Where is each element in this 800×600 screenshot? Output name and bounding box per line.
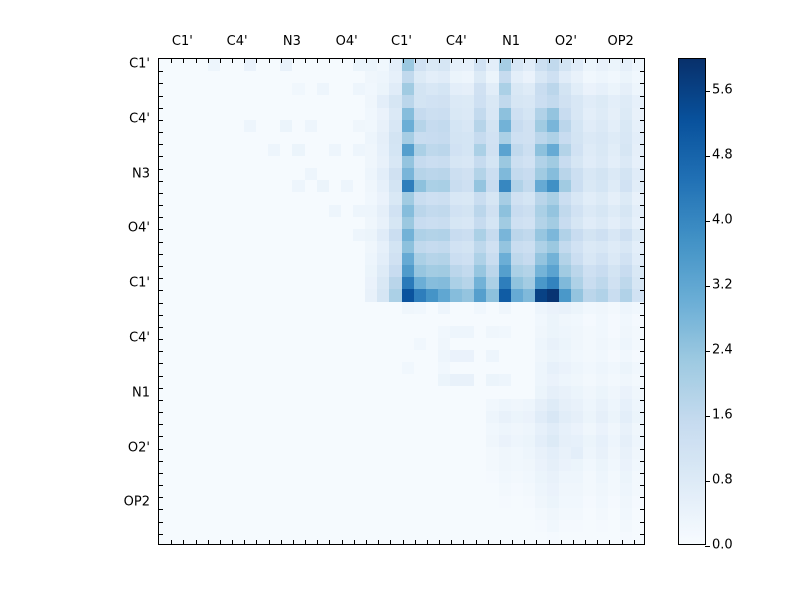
heatmap-cell	[414, 144, 426, 156]
heatmap-cell	[414, 447, 426, 459]
heatmap-cell	[438, 289, 450, 301]
heatmap-cell	[608, 180, 620, 192]
heatmap-cell	[280, 241, 292, 253]
heatmap-cell	[171, 386, 183, 398]
heatmap-cell	[208, 386, 220, 398]
heatmap-cell	[268, 471, 280, 483]
heatmap-cell	[608, 483, 620, 495]
heatmap-cell	[341, 241, 353, 253]
heatmap-cell	[208, 459, 220, 471]
heatmap-cell	[365, 326, 377, 338]
heatmap-cell	[232, 411, 244, 423]
heatmap-cell	[208, 471, 220, 483]
heatmap-cell	[244, 229, 256, 241]
heatmap-cell	[450, 520, 462, 532]
heatmap-cell	[256, 302, 268, 314]
heatmap-cell	[377, 71, 389, 83]
heatmap-cell	[268, 326, 280, 338]
heatmap-cell	[365, 229, 377, 241]
axis-tick	[640, 254, 644, 255]
axis-tick	[329, 540, 330, 544]
heatmap-cell	[280, 508, 292, 520]
heatmap-cell	[183, 120, 195, 132]
heatmap-cell	[511, 386, 523, 398]
heatmap-cell	[462, 411, 474, 423]
heatmap-cell	[317, 289, 329, 301]
axis-tick	[463, 540, 464, 544]
axis-tick	[305, 59, 306, 63]
heatmap-cell	[305, 241, 317, 253]
heatmap-cell	[523, 386, 535, 398]
heatmap-cell	[426, 350, 438, 362]
axis-tick	[439, 540, 440, 544]
heatmap-cell	[365, 205, 377, 217]
heatmap-cell	[462, 192, 474, 204]
heatmap-cell	[208, 192, 220, 204]
heatmap-cell	[402, 435, 414, 447]
heatmap-cell	[450, 108, 462, 120]
heatmap-cell	[450, 71, 462, 83]
heatmap-cell	[535, 132, 547, 144]
heatmap-cell	[268, 386, 280, 398]
heatmap-cell	[317, 520, 329, 532]
heatmap-cell	[232, 386, 244, 398]
heatmap-cell	[292, 95, 304, 107]
axis-tick	[196, 59, 197, 63]
heatmap-cell	[596, 120, 608, 132]
heatmap-cell	[426, 435, 438, 447]
heatmap-cell	[583, 374, 595, 386]
x-tick-label: C4'	[227, 34, 248, 49]
heatmap-cell	[305, 120, 317, 132]
heatmap-cell	[292, 241, 304, 253]
heatmap-cell	[511, 459, 523, 471]
heatmap-cell	[329, 459, 341, 471]
heatmap-cell	[620, 314, 632, 326]
heatmap-cell	[232, 483, 244, 495]
axis-tick	[390, 540, 391, 544]
heatmap-cell	[499, 314, 511, 326]
heatmap-cell	[329, 192, 341, 204]
axis-tick	[640, 485, 644, 486]
heatmap-cell	[583, 483, 595, 495]
heatmap-cell	[402, 302, 414, 314]
heatmap-cell	[244, 144, 256, 156]
heatmap-cell	[559, 411, 571, 423]
heatmap-cell	[377, 411, 389, 423]
heatmap-cell	[317, 374, 329, 386]
heatmap-cell	[583, 205, 595, 217]
axis-tick	[269, 540, 270, 544]
heatmap-cell	[632, 205, 644, 217]
heatmap-cell	[183, 399, 195, 411]
heatmap-cell	[183, 326, 195, 338]
heatmap-cell	[402, 289, 414, 301]
heatmap-cell	[329, 302, 341, 314]
heatmap-cell	[438, 459, 450, 471]
heatmap-cell	[402, 83, 414, 95]
axis-tick	[640, 132, 644, 133]
heatmap-cell	[402, 496, 414, 508]
heatmap-cell	[486, 471, 498, 483]
heatmap-cell	[195, 520, 207, 532]
heatmap-cell	[365, 374, 377, 386]
heatmap-cell	[620, 83, 632, 95]
heatmap-cell	[389, 362, 401, 374]
axis-tick	[159, 473, 163, 474]
heatmap-cell	[389, 253, 401, 265]
heatmap-cell	[474, 156, 486, 168]
heatmap-cell	[402, 483, 414, 495]
heatmap-cell	[547, 108, 559, 120]
axis-tick	[609, 540, 610, 544]
heatmap-cell	[365, 265, 377, 277]
axis-tick	[640, 509, 644, 510]
heatmap-cell	[244, 411, 256, 423]
heatmap-cell	[220, 156, 232, 168]
axis-tick	[159, 71, 163, 72]
heatmap-cell	[438, 180, 450, 192]
heatmap-cell	[305, 423, 317, 435]
heatmap-cell	[171, 180, 183, 192]
heatmap-cell	[462, 229, 474, 241]
heatmap-cell	[414, 374, 426, 386]
heatmap-cell	[620, 192, 632, 204]
heatmap-cell	[292, 192, 304, 204]
heatmap-cell	[438, 435, 450, 447]
heatmap-cell	[305, 265, 317, 277]
heatmap-cell	[220, 253, 232, 265]
heatmap-cell	[159, 120, 171, 132]
y-tick-label: C1'	[96, 276, 150, 291]
heatmap-cell	[547, 435, 559, 447]
axis-tick	[159, 181, 163, 182]
heatmap-plot-area[interactable]	[158, 58, 645, 545]
heatmap-cell	[341, 132, 353, 144]
heatmap-cell	[389, 496, 401, 508]
heatmap-cell	[583, 265, 595, 277]
axis-tick	[597, 59, 598, 63]
axis-tick	[183, 540, 184, 544]
heatmap-cell	[365, 411, 377, 423]
heatmap-cell	[280, 217, 292, 229]
heatmap-cell	[280, 83, 292, 95]
heatmap-cell	[499, 108, 511, 120]
colorbar[interactable]	[678, 58, 706, 545]
heatmap-cell	[195, 83, 207, 95]
heatmap-cell	[220, 532, 232, 544]
heatmap-cell	[317, 71, 329, 83]
heatmap-cell	[195, 241, 207, 253]
heatmap-cell	[438, 205, 450, 217]
axis-tick	[159, 83, 163, 84]
heatmap-cell	[317, 435, 329, 447]
heatmap-cell	[389, 386, 401, 398]
heatmap-cell	[244, 83, 256, 95]
heatmap-cell	[547, 229, 559, 241]
heatmap-cell	[523, 265, 535, 277]
heatmap-cell	[486, 180, 498, 192]
heatmap-cell	[632, 120, 644, 132]
heatmap-cell	[377, 180, 389, 192]
heatmap-cell	[341, 459, 353, 471]
axis-tick	[281, 59, 282, 63]
heatmap-cell	[292, 108, 304, 120]
heatmap-cell	[159, 132, 171, 144]
heatmap-cell	[462, 423, 474, 435]
heatmap-cell	[535, 71, 547, 83]
heatmap-cell	[292, 399, 304, 411]
heatmap-cell	[353, 338, 365, 350]
axis-tick	[640, 83, 644, 84]
heatmap-cell	[171, 435, 183, 447]
axis-tick	[640, 242, 644, 243]
heatmap-cell	[159, 241, 171, 253]
heatmap-cell	[462, 71, 474, 83]
heatmap-cell	[305, 399, 317, 411]
heatmap-cell	[305, 326, 317, 338]
heatmap-cell	[499, 83, 511, 95]
heatmap-cell	[583, 289, 595, 301]
heatmap-cell	[365, 217, 377, 229]
heatmap-cell	[220, 350, 232, 362]
heatmap-cell	[317, 471, 329, 483]
heatmap-cell	[268, 374, 280, 386]
heatmap-cell	[305, 217, 317, 229]
heatmap-cell	[365, 120, 377, 132]
heatmap-cell	[571, 120, 583, 132]
heatmap-cell	[195, 95, 207, 107]
heatmap-cell	[341, 435, 353, 447]
heatmap-cell	[280, 350, 292, 362]
heatmap-cell	[414, 83, 426, 95]
heatmap-cell	[208, 95, 220, 107]
heatmap-cell	[365, 399, 377, 411]
heatmap-cell	[183, 350, 195, 362]
heatmap-cell	[244, 95, 256, 107]
heatmap-cell	[195, 156, 207, 168]
heatmap-cell	[256, 326, 268, 338]
heatmap-cell	[486, 423, 498, 435]
heatmap-cell	[353, 192, 365, 204]
heatmap-cell	[232, 447, 244, 459]
heatmap-cell	[523, 241, 535, 253]
heatmap-cell	[450, 241, 462, 253]
heatmap-cell	[523, 205, 535, 217]
heatmap-cell	[208, 435, 220, 447]
heatmap-cell	[208, 253, 220, 265]
heatmap-cell	[159, 229, 171, 241]
heatmap-cell	[280, 108, 292, 120]
heatmap-cell	[438, 471, 450, 483]
heatmap-cell	[353, 120, 365, 132]
heatmap-cell	[596, 95, 608, 107]
heatmap-cell	[535, 520, 547, 532]
heatmap-cell	[280, 423, 292, 435]
heatmap-cell	[389, 229, 401, 241]
axis-tick	[159, 461, 163, 462]
axis-tick	[159, 108, 163, 109]
heatmap-cell	[341, 253, 353, 265]
heatmap-cell	[414, 483, 426, 495]
heatmap-cell	[268, 108, 280, 120]
heatmap-cell	[365, 277, 377, 289]
heatmap-cell	[426, 289, 438, 301]
heatmap-cell	[171, 192, 183, 204]
colorbar-tick	[705, 351, 710, 352]
heatmap-cell	[305, 95, 317, 107]
heatmap-cell	[547, 520, 559, 532]
axis-tick	[573, 59, 574, 63]
heatmap-cell	[608, 217, 620, 229]
heatmap-cell	[462, 168, 474, 180]
axis-tick	[451, 540, 452, 544]
heatmap-cell	[523, 435, 535, 447]
heatmap-cell	[426, 120, 438, 132]
heatmap-cell	[292, 59, 304, 71]
heatmap-cell	[608, 362, 620, 374]
heatmap-cell	[462, 459, 474, 471]
heatmap-cell	[559, 435, 571, 447]
heatmap-cell	[232, 95, 244, 107]
heatmap-cell	[608, 229, 620, 241]
y-tick-label: O4'	[96, 221, 150, 236]
heatmap-cell	[571, 132, 583, 144]
heatmap-cell	[486, 459, 498, 471]
heatmap-cell	[317, 253, 329, 265]
heatmap-cell	[183, 435, 195, 447]
heatmap-cell	[559, 483, 571, 495]
heatmap-cell	[377, 362, 389, 374]
heatmap-cell	[159, 168, 171, 180]
heatmap-cell	[341, 423, 353, 435]
heatmap-cell	[183, 520, 195, 532]
heatmap-cell	[244, 289, 256, 301]
heatmap-cell	[183, 289, 195, 301]
heatmap-cell	[341, 532, 353, 544]
axis-tick	[476, 59, 477, 63]
heatmap-cell	[220, 483, 232, 495]
axis-tick	[196, 540, 197, 544]
heatmap-cell	[389, 108, 401, 120]
heatmap-cell	[280, 253, 292, 265]
heatmap-cell	[414, 350, 426, 362]
heatmap-cell	[402, 277, 414, 289]
heatmap-cell	[499, 338, 511, 350]
heatmap-cell	[608, 496, 620, 508]
heatmap-cell	[159, 71, 171, 83]
heatmap-cell	[523, 217, 535, 229]
heatmap-cell	[292, 483, 304, 495]
heatmap-cell	[220, 180, 232, 192]
heatmap-cell	[486, 95, 498, 107]
heatmap-cell	[280, 411, 292, 423]
heatmap-cell	[244, 459, 256, 471]
y-tick-label: C4'	[96, 111, 150, 126]
heatmap-cell	[438, 411, 450, 423]
heatmap-cell	[317, 277, 329, 289]
heatmap-cell	[195, 471, 207, 483]
heatmap-cell	[244, 253, 256, 265]
heatmap-cell	[535, 302, 547, 314]
heatmap-cell	[583, 192, 595, 204]
axis-tick	[159, 156, 163, 157]
heatmap-cell	[389, 435, 401, 447]
heatmap-cell	[535, 314, 547, 326]
axis-tick	[403, 540, 404, 544]
heatmap-cell	[583, 168, 595, 180]
heatmap-cell	[523, 459, 535, 471]
heatmap-cell	[535, 423, 547, 435]
axis-tick	[342, 540, 343, 544]
heatmap-cell	[208, 108, 220, 120]
heatmap-cell	[438, 253, 450, 265]
heatmap-cell	[183, 362, 195, 374]
heatmap-cell	[426, 241, 438, 253]
heatmap-cell	[171, 205, 183, 217]
heatmap-cell	[450, 338, 462, 350]
heatmap-cell	[183, 132, 195, 144]
axis-tick	[536, 540, 537, 544]
heatmap-cell	[535, 265, 547, 277]
heatmap-cell	[608, 144, 620, 156]
heatmap-cell	[583, 362, 595, 374]
axis-tick	[159, 400, 163, 401]
heatmap-cell	[341, 217, 353, 229]
heatmap-cell	[511, 217, 523, 229]
heatmap-cell	[499, 71, 511, 83]
heatmap-cell	[474, 423, 486, 435]
heatmap-cell	[256, 362, 268, 374]
heatmap-cell	[596, 265, 608, 277]
heatmap-cell	[317, 338, 329, 350]
heatmap-cell	[244, 399, 256, 411]
heatmap-cell	[341, 496, 353, 508]
heatmap-cell	[268, 253, 280, 265]
axis-tick	[159, 205, 163, 206]
heatmap-cell	[280, 326, 292, 338]
heatmap-cell	[220, 120, 232, 132]
heatmap-cell	[329, 253, 341, 265]
heatmap-cell	[232, 144, 244, 156]
heatmap-cell	[377, 520, 389, 532]
heatmap-cell	[280, 168, 292, 180]
heatmap-cell	[341, 229, 353, 241]
heatmap-cell	[486, 192, 498, 204]
heatmap-cell	[353, 132, 365, 144]
heatmap-cell	[268, 399, 280, 411]
heatmap-cell	[220, 314, 232, 326]
heatmap-cell	[559, 205, 571, 217]
heatmap-cell	[511, 399, 523, 411]
heatmap-cell	[486, 362, 498, 374]
axis-tick	[159, 193, 163, 194]
heatmap-cell	[365, 386, 377, 398]
heatmap-cell	[486, 483, 498, 495]
heatmap-cell	[256, 95, 268, 107]
heatmap-cell	[450, 217, 462, 229]
heatmap-cell	[195, 217, 207, 229]
y-tick-label: C1'	[96, 57, 150, 72]
heatmap-cell	[377, 277, 389, 289]
heatmap-cell	[450, 289, 462, 301]
heatmap-cell	[305, 302, 317, 314]
heatmap-cell	[329, 59, 341, 71]
heatmap-cell	[402, 399, 414, 411]
heatmap-cell	[608, 241, 620, 253]
heatmap-cell	[632, 132, 644, 144]
heatmap-cell	[559, 471, 571, 483]
